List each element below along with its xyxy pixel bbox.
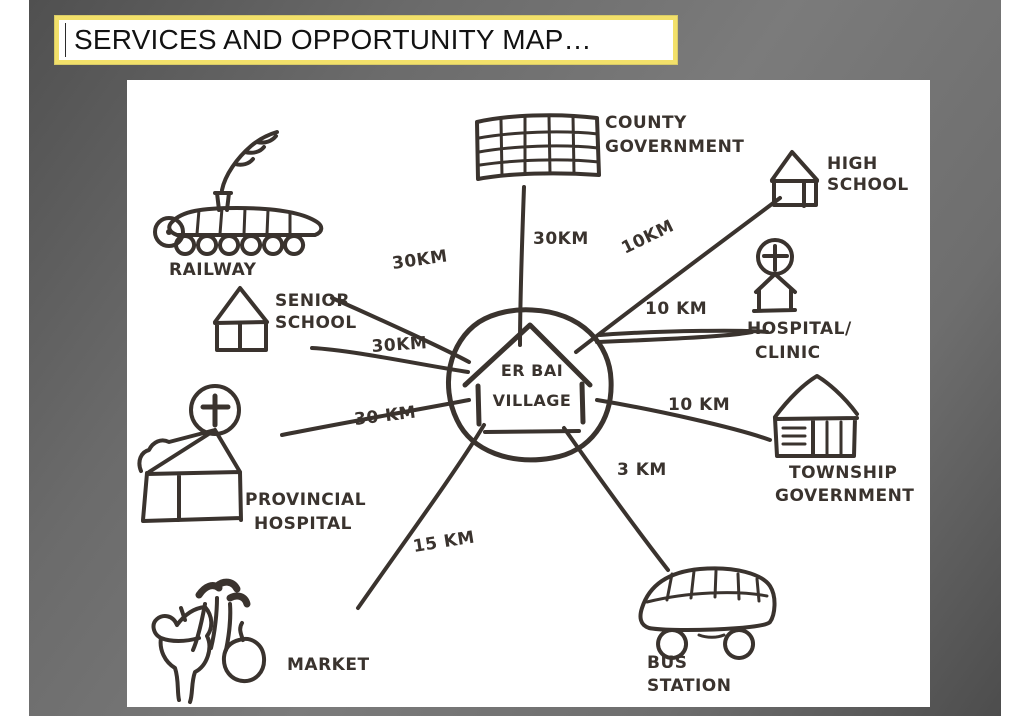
node-label-senior-school-line1: SENIOR [275, 291, 350, 311]
slide-edge-left [0, 0, 29, 724]
slide-title-box: SERVICES AND OPPORTUNITY MAP… [55, 16, 677, 64]
distance-hospital-clinic: 10 KM [645, 299, 707, 319]
node-label-county-government-line2: GOVERNMENT [605, 137, 744, 157]
distance-county-government: 30KM [533, 229, 589, 249]
node-label-township-government-line1: TOWNSHIP [789, 463, 897, 483]
node-hospital-clinic[interactable]: HOSPITAL/ CLINIC 10 KM [645, 240, 852, 363]
train-smoke-icon [222, 132, 277, 190]
node-label-bus-station-line1: BUS [647, 653, 688, 673]
slide-title-inner: SERVICES AND OPPORTUNITY MAP… [65, 23, 592, 57]
node-label-county-government-line1: COUNTY [605, 113, 687, 133]
clinic-cross-icon [203, 396, 228, 425]
distance-provincial-hospital: 30 KM [353, 403, 417, 430]
services-opportunity-diagram: ER BAI VILLAGE RAILWAY 30KM [127, 80, 930, 707]
vegetable-leaves-icon [199, 582, 247, 604]
node-label-hospital-clinic-line2: CLINIC [755, 343, 821, 363]
distance-railway: 30KM [391, 246, 449, 274]
node-label-senior-school-line2: SCHOOL [275, 313, 357, 333]
center-label-line2: VILLAGE [493, 391, 572, 410]
center-underline [485, 431, 579, 432]
person-body-icon [754, 274, 795, 311]
node-label-township-government-line2: GOVERNMENT [775, 486, 914, 506]
spoke-line-county-government [520, 187, 524, 345]
center-house-post-right [582, 384, 583, 422]
clinic-building-icon [139, 430, 241, 521]
distance-market: 15 KM [412, 527, 477, 556]
node-label-provincial-hospital-line1: PROVINCIAL [245, 490, 366, 510]
bus-windows-icon [647, 571, 767, 602]
drawing-canvas: ER BAI VILLAGE RAILWAY 30KM [127, 80, 930, 707]
node-township-government[interactable]: TOWNSHIP GOVERNMENT 10 KM [668, 376, 914, 506]
distance-senior-school: 30KM [371, 333, 428, 357]
node-label-provincial-hospital-line2: HOSPITAL [254, 514, 352, 534]
cross-icon [764, 246, 787, 270]
node-label-railway: RAILWAY [169, 260, 257, 280]
node-label-hospital-clinic-line1: HOSPITAL/ [747, 319, 852, 339]
center-node: ER BAI VILLAGE [448, 310, 611, 460]
slide-root: SERVICES AND OPPORTUNITY MAP… [0, 0, 1024, 724]
node-provincial-hospital[interactable]: PROVINCIAL HOSPITAL 30 KM [139, 386, 417, 534]
node-market[interactable]: MARKET 15 KM [154, 527, 477, 702]
distance-high-school: 10KM [618, 216, 677, 258]
house-icon-senior-school [215, 288, 267, 350]
node-bus-station[interactable]: BUS STATION 3 KM [617, 460, 775, 696]
node-label-market: MARKET [287, 655, 370, 675]
node-label-high-school-line2: SCHOOL [827, 175, 909, 195]
slide-edge-right [1001, 0, 1024, 724]
distance-township-government: 10 KM [668, 395, 730, 415]
train-wheels-icon [176, 236, 303, 254]
center-house-post-left [478, 386, 479, 424]
node-senior-school[interactable]: SENIOR SCHOOL 30KM [215, 288, 428, 357]
center-label-line1: ER BAI [501, 361, 563, 380]
spoke-line-market [358, 425, 484, 608]
node-county-government[interactable]: COUNTY GOVERNMENT 30KM [477, 113, 744, 249]
slide-edge-bottom [0, 716, 1024, 724]
page-title: SERVICES AND OPPORTUNITY MAP… [74, 24, 592, 56]
node-railway[interactable]: RAILWAY 30KM [155, 132, 449, 280]
distance-bus-station: 3 KM [617, 460, 667, 480]
building-grid-icon [479, 116, 599, 176]
train-front-dot-icon [166, 229, 172, 235]
node-label-high-school-line1: HIGH [827, 154, 878, 174]
node-label-bus-station-line2: STATION [647, 676, 731, 696]
bus-underline-icon [699, 635, 724, 637]
